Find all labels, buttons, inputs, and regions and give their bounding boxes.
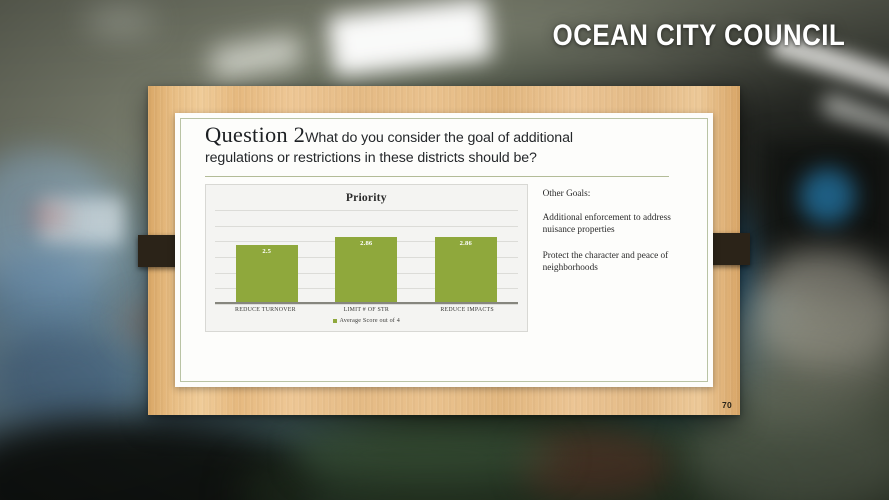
chart-bar-value-label: 2.86 <box>335 240 397 247</box>
slide-body: Priority 2.52.862.86 REDUCE TURNOVERLIMI… <box>205 184 691 332</box>
chart-bar: 2.86 <box>435 237 497 304</box>
channel-title: OCEAN CITY COUNCIL <box>552 19 845 53</box>
other-goal-item: Protect the character and peace of neigh… <box>543 250 691 275</box>
presentation-slide: Question 2What do you consider the goal … <box>175 113 713 387</box>
slide-page-number: 70 <box>722 400 732 410</box>
question-text-part-2: regulations or restrictions in these dis… <box>205 149 691 167</box>
chart-category-axis <box>215 302 518 304</box>
chart-title: Priority <box>206 191 527 204</box>
chart-bar: 2.86 <box>335 237 397 304</box>
chart-gridline <box>215 304 518 305</box>
chart-bar-slot: 2.86 <box>317 210 417 304</box>
question-line-1: Question 2What do you consider the goal … <box>205 135 691 142</box>
chart-plot-area: 2.52.862.86 <box>215 210 518 304</box>
chart-category-label: REDUCE TURNOVER <box>215 307 316 313</box>
chart-bar-fill <box>435 237 497 304</box>
other-goals-heading: Other Goals: <box>543 189 691 199</box>
other-goal-item: Additional enforcement to address nuisan… <box>543 212 691 237</box>
chart-category-labels: REDUCE TURNOVERLIMIT # OF STRREDUCE IMPA… <box>215 307 518 313</box>
ceiling-light-faint <box>85 8 155 34</box>
priority-bar-chart: Priority 2.52.862.86 REDUCE TURNOVERLIMI… <box>205 184 528 332</box>
legend-color-swatch <box>333 319 337 323</box>
left-lower-blue-glow <box>0 330 130 425</box>
chart-category-label: REDUCE IMPACTS <box>417 307 518 313</box>
chart-bar-value-label: 2.86 <box>435 240 497 247</box>
left-red-accent <box>28 206 68 226</box>
question-text-part-1: What do you consider the goal of additio… <box>305 130 573 146</box>
chart-legend: Average Score out of 4 <box>206 318 527 324</box>
chart-bar-value-label: 2.5 <box>236 248 298 255</box>
chart-bar-fill <box>335 237 397 304</box>
question-label: Question 2 <box>205 122 305 147</box>
foreground-green-surface <box>300 425 560 485</box>
legend-label: Average Score out of 4 <box>340 318 400 324</box>
chart-bar-slot: 2.5 <box>217 210 317 304</box>
title-divider <box>205 176 669 177</box>
chart-category-label: LIMIT # OF STR <box>316 307 417 313</box>
foreground-right-surface <box>690 400 889 500</box>
projection-screen-assembly: 70 Question 2What do you consider the go… <box>148 86 740 415</box>
right-blue-light <box>800 168 856 224</box>
chart-bar-slot: 2.86 <box>416 210 516 304</box>
question-heading: Question 2What do you consider the goal … <box>205 135 691 167</box>
chart-bar: 2.5 <box>236 245 298 304</box>
other-goals-panel: Other Goals: Additional enforcement to a… <box>543 184 691 332</box>
slide-content: Question 2What do you consider the goal … <box>205 135 691 373</box>
chart-bars: 2.52.862.86 <box>215 210 518 304</box>
